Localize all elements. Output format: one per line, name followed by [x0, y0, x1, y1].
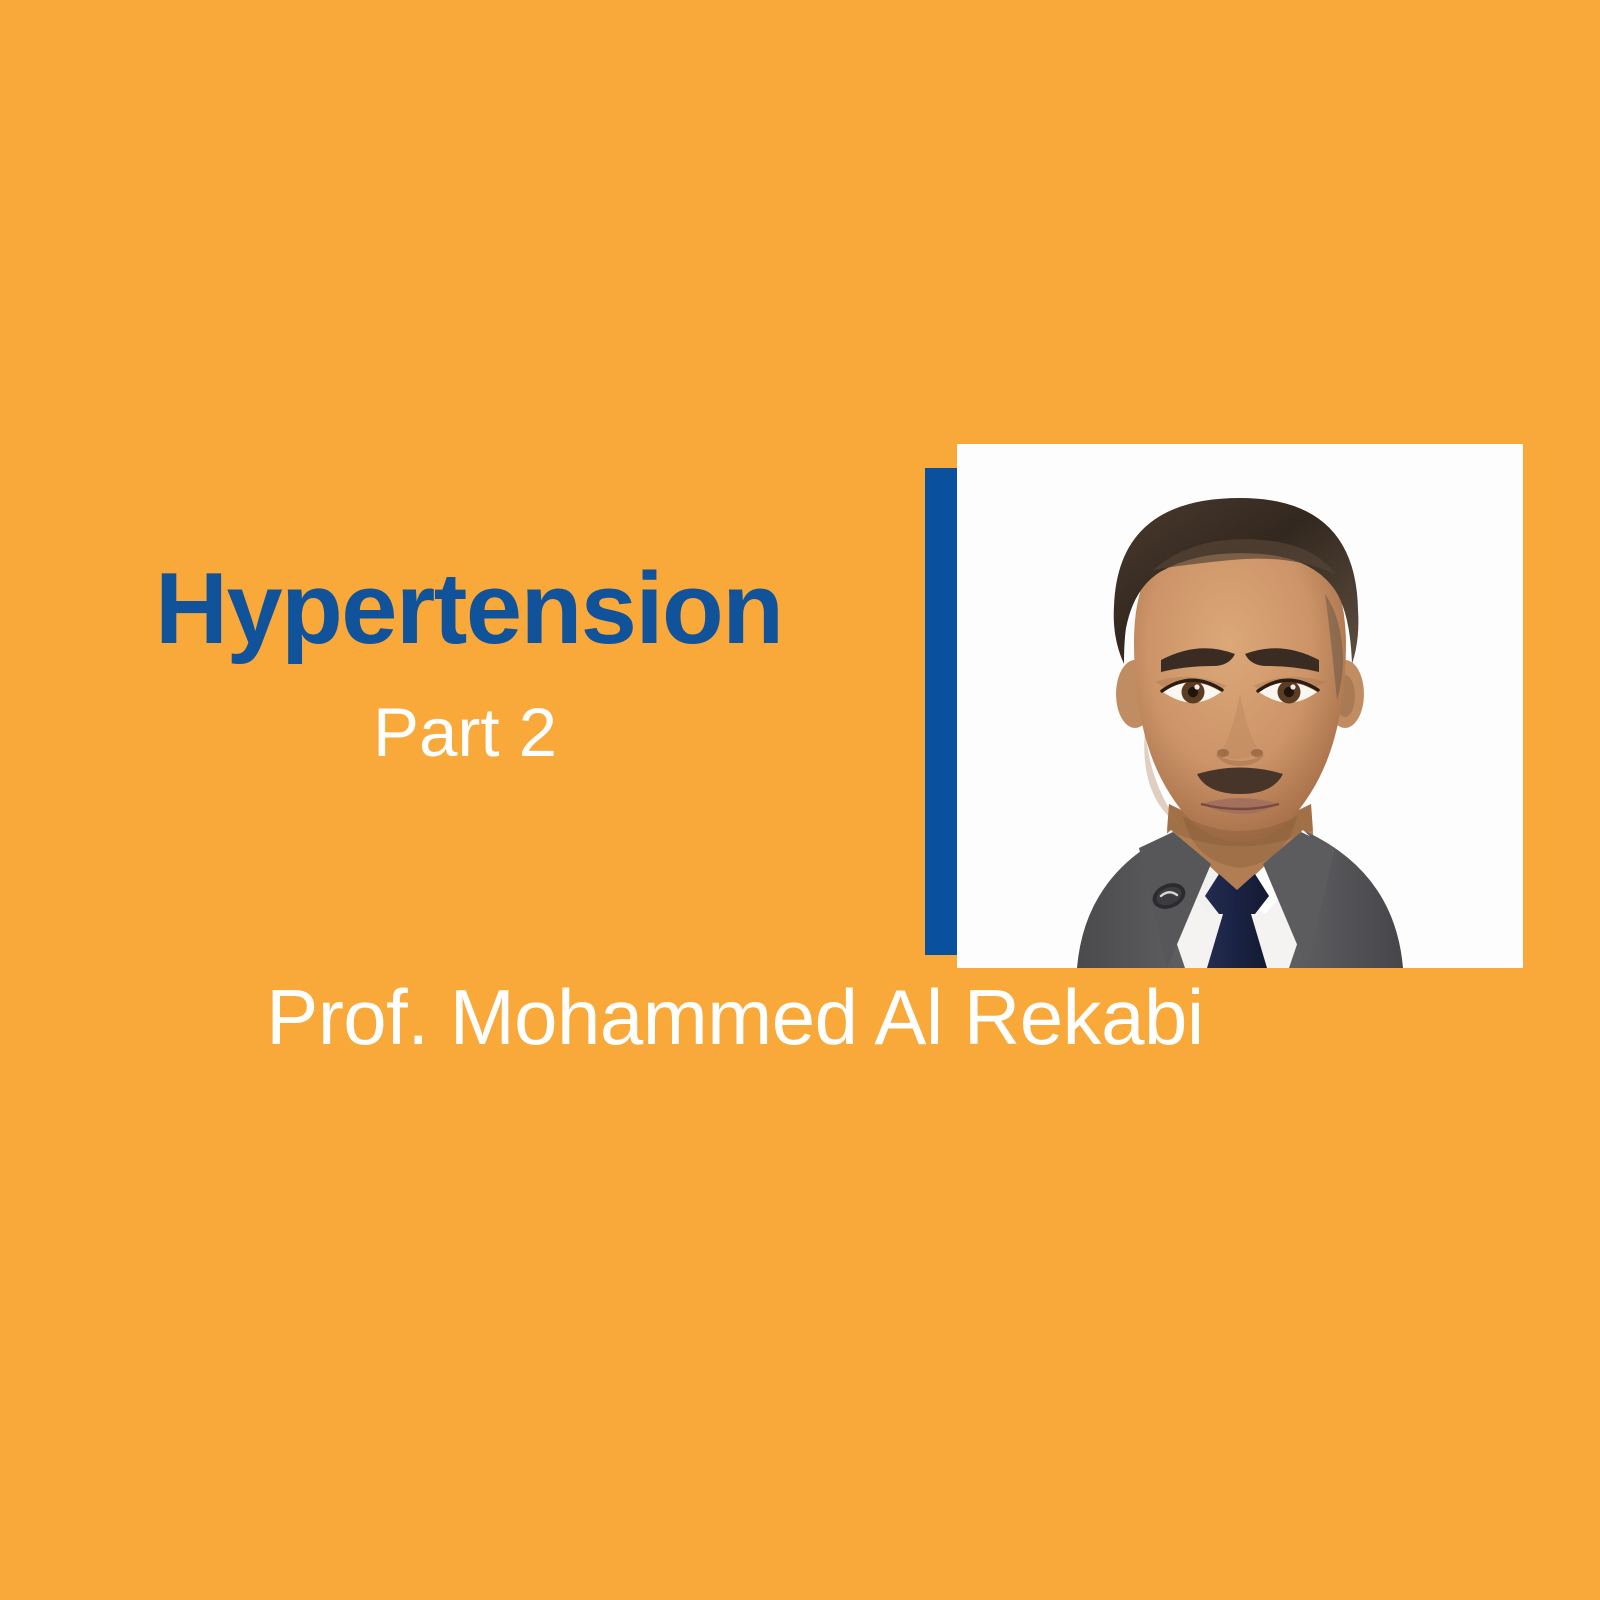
- presentation-title-slide: Hypertension Part 2: [0, 0, 1600, 1600]
- presenter-name: Prof. Mohammed Al Rekabi: [0, 975, 1470, 1061]
- page-subtitle: Part 2: [155, 696, 775, 769]
- title-block: Hypertension Part 2: [0, 556, 900, 816]
- page-title: Hypertension: [155, 556, 782, 663]
- presenter-portrait-photo: [957, 444, 1523, 968]
- portrait-frame: [957, 444, 1523, 968]
